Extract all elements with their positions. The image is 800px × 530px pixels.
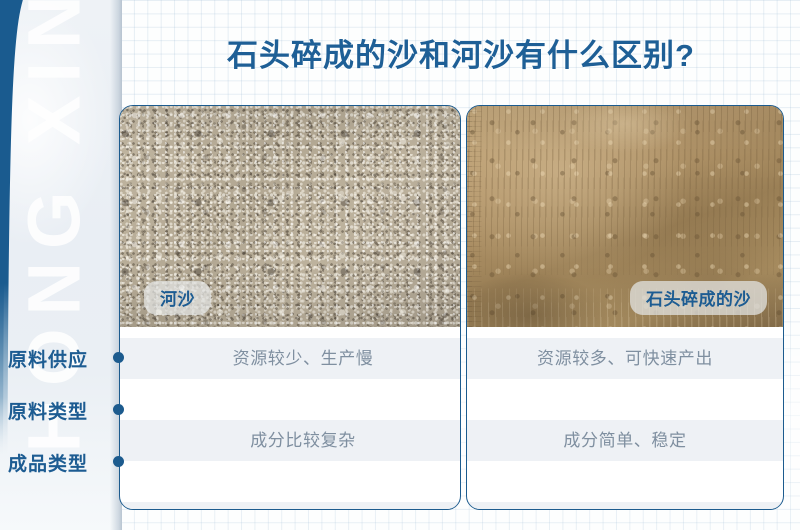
river-sand-photo-shade <box>120 106 460 327</box>
crushed-sand-gap-1 <box>467 461 783 502</box>
poster-canvas: HONG XING 石头碎成的沙和河沙有什么区别? 河沙 资源 <box>0 0 800 530</box>
page-title: 石头碎成的沙和河沙有什么区别? <box>122 30 800 75</box>
comparison-card-river-sand: 河沙 资源较少、生产慢 成分比较复杂 细度模数比较单一 <box>119 105 461 510</box>
connector-dot-2 <box>113 456 124 467</box>
crushed-sand-value-0: 资源较多、可快速产出 <box>467 338 783 379</box>
river-sand-rows: 资源较少、生产慢 成分比较复杂 细度模数比较单一 <box>120 327 460 510</box>
row-label-raw-material-supply: 原料供应 <box>8 345 110 372</box>
connector-dot-0 <box>113 352 124 363</box>
river-sand-photo: 河沙 <box>120 106 460 327</box>
crushed-sand-value-1: 成分简单、稳定 <box>467 420 783 461</box>
crushed-sand-rows: 资源较多、可快速产出 成分简单、稳定 细度模数多、适应不同需求 <box>467 327 783 510</box>
river-sand-value-0: 资源较少、生产慢 <box>120 338 460 379</box>
crushed-sand-photo: 石头碎成的沙 <box>467 106 783 327</box>
row-label-raw-material-type: 原料类型 <box>8 397 110 424</box>
crushed-sand-value-2: 细度模数多、适应不同需求 <box>467 502 783 510</box>
crushed-sand-photo-shade <box>467 106 783 327</box>
crushed-sand-caption: 石头碎成的沙 <box>630 281 767 315</box>
comparison-card-crushed-sand: 石头碎成的沙 资源较多、可快速产出 成分简单、稳定 细度模数多、适应不同需求 <box>466 105 784 510</box>
river-sand-gap-0 <box>120 379 460 420</box>
crushed-sand-gap-0 <box>467 379 783 420</box>
row-label-column: 原料供应 原料类型 成品类型 <box>0 0 122 530</box>
river-sand-value-2: 细度模数比较单一 <box>120 502 460 510</box>
row-label-product-type: 成品类型 <box>8 449 110 476</box>
river-sand-caption: 河沙 <box>144 281 211 315</box>
river-sand-value-1: 成分比较复杂 <box>120 420 460 461</box>
connector-dot-1 <box>113 404 124 415</box>
row-spacer-top <box>467 327 783 338</box>
row-spacer-top <box>120 327 460 338</box>
river-sand-gap-1 <box>120 461 460 502</box>
